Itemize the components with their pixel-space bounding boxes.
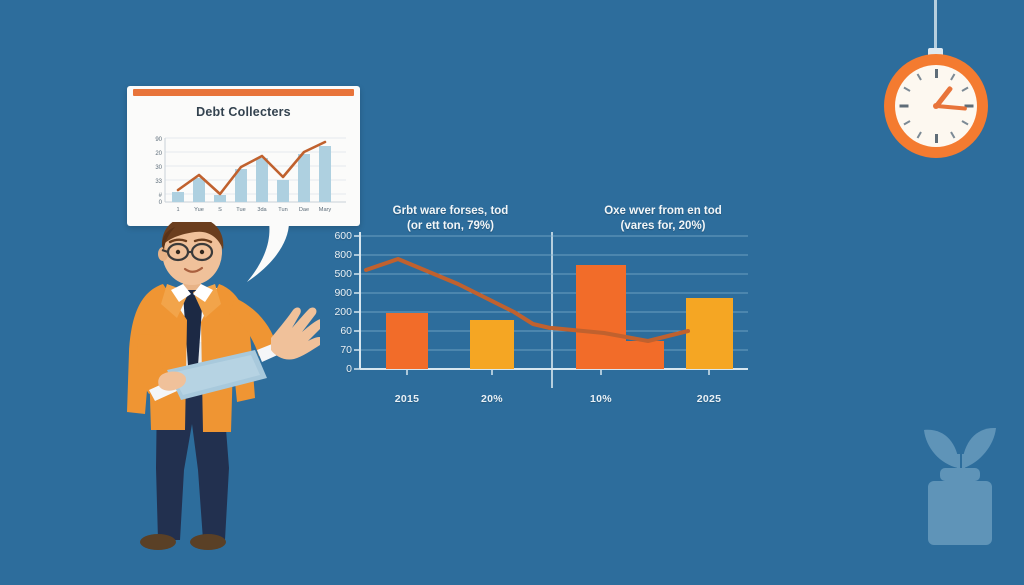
svg-text:Mary: Mary — [319, 207, 332, 213]
figure-shoe-right — [190, 534, 226, 550]
ytick-label-3: 900 — [318, 287, 352, 299]
xtick-label-right-2: 2025 — [684, 393, 734, 405]
ytick-label-2: 500 — [318, 268, 352, 280]
clock-minute-hand — [936, 104, 967, 111]
svg-text:S: S — [218, 207, 222, 213]
clock-rim — [884, 54, 988, 158]
svg-text:1: 1 — [176, 207, 179, 213]
bar-right-2 — [626, 341, 664, 369]
ytick-label-0: 600 — [318, 230, 352, 242]
svg-text:90: 90 — [155, 137, 162, 143]
speech-bubble-chart-card: Debt Collecters 90 20 30 33 # 0 — [127, 86, 360, 226]
card-accent-bar — [133, 89, 354, 96]
svg-text:Dae: Dae — [299, 207, 309, 213]
figure-shoe-left — [140, 534, 176, 550]
svg-text:Yue: Yue — [194, 207, 204, 213]
left-chart-title-line1: Grbt ware forses, tod — [368, 204, 533, 219]
svg-text:30: 30 — [155, 165, 162, 171]
svg-text:Tue: Tue — [236, 207, 245, 213]
svg-text:#: # — [159, 193, 163, 199]
xtick-label-right-1: 10% — [576, 393, 626, 405]
svg-text:0: 0 — [159, 200, 163, 206]
clock-cord — [934, 0, 937, 52]
wall-clock-icon — [880, 0, 990, 160]
ytick-label-7: 0 — [318, 363, 352, 375]
illustration-scene: Debt Collecters 90 20 30 33 # 0 — [0, 0, 1024, 585]
clock-center-pin — [933, 103, 939, 109]
svg-text:Tun: Tun — [278, 207, 287, 213]
bar-right-1 — [576, 265, 626, 369]
svg-text:33: 33 — [155, 179, 162, 185]
clock-face — [895, 65, 977, 147]
bar-left-1 — [386, 313, 428, 369]
svg-text:3da: 3da — [257, 207, 267, 213]
potted-plant-silhouette-icon — [900, 408, 1020, 568]
mini-bar-line-chart: 90 20 30 33 # 0 1 — [143, 132, 348, 218]
right-chart-title-line1: Oxe wver from en tod — [578, 204, 748, 219]
xtick-label-left-2: 20% — [467, 393, 517, 405]
bar-right-3 — [686, 298, 733, 369]
ytick-label-6: 70 — [318, 344, 352, 356]
svg-text:20: 20 — [155, 151, 162, 157]
figure-hand-right — [271, 307, 320, 359]
presenter-illustration — [105, 222, 320, 552]
bar-left-2 — [470, 320, 514, 369]
bubble-chart-title: Debt Collecters — [127, 105, 360, 119]
main-dual-bar-chart — [318, 228, 750, 390]
ytick-label-1: 800 — [318, 249, 352, 261]
ytick-label-4: 200 — [318, 306, 352, 318]
xtick-label-left-1: 2015 — [382, 393, 432, 405]
ytick-label-5: 60 — [318, 325, 352, 337]
